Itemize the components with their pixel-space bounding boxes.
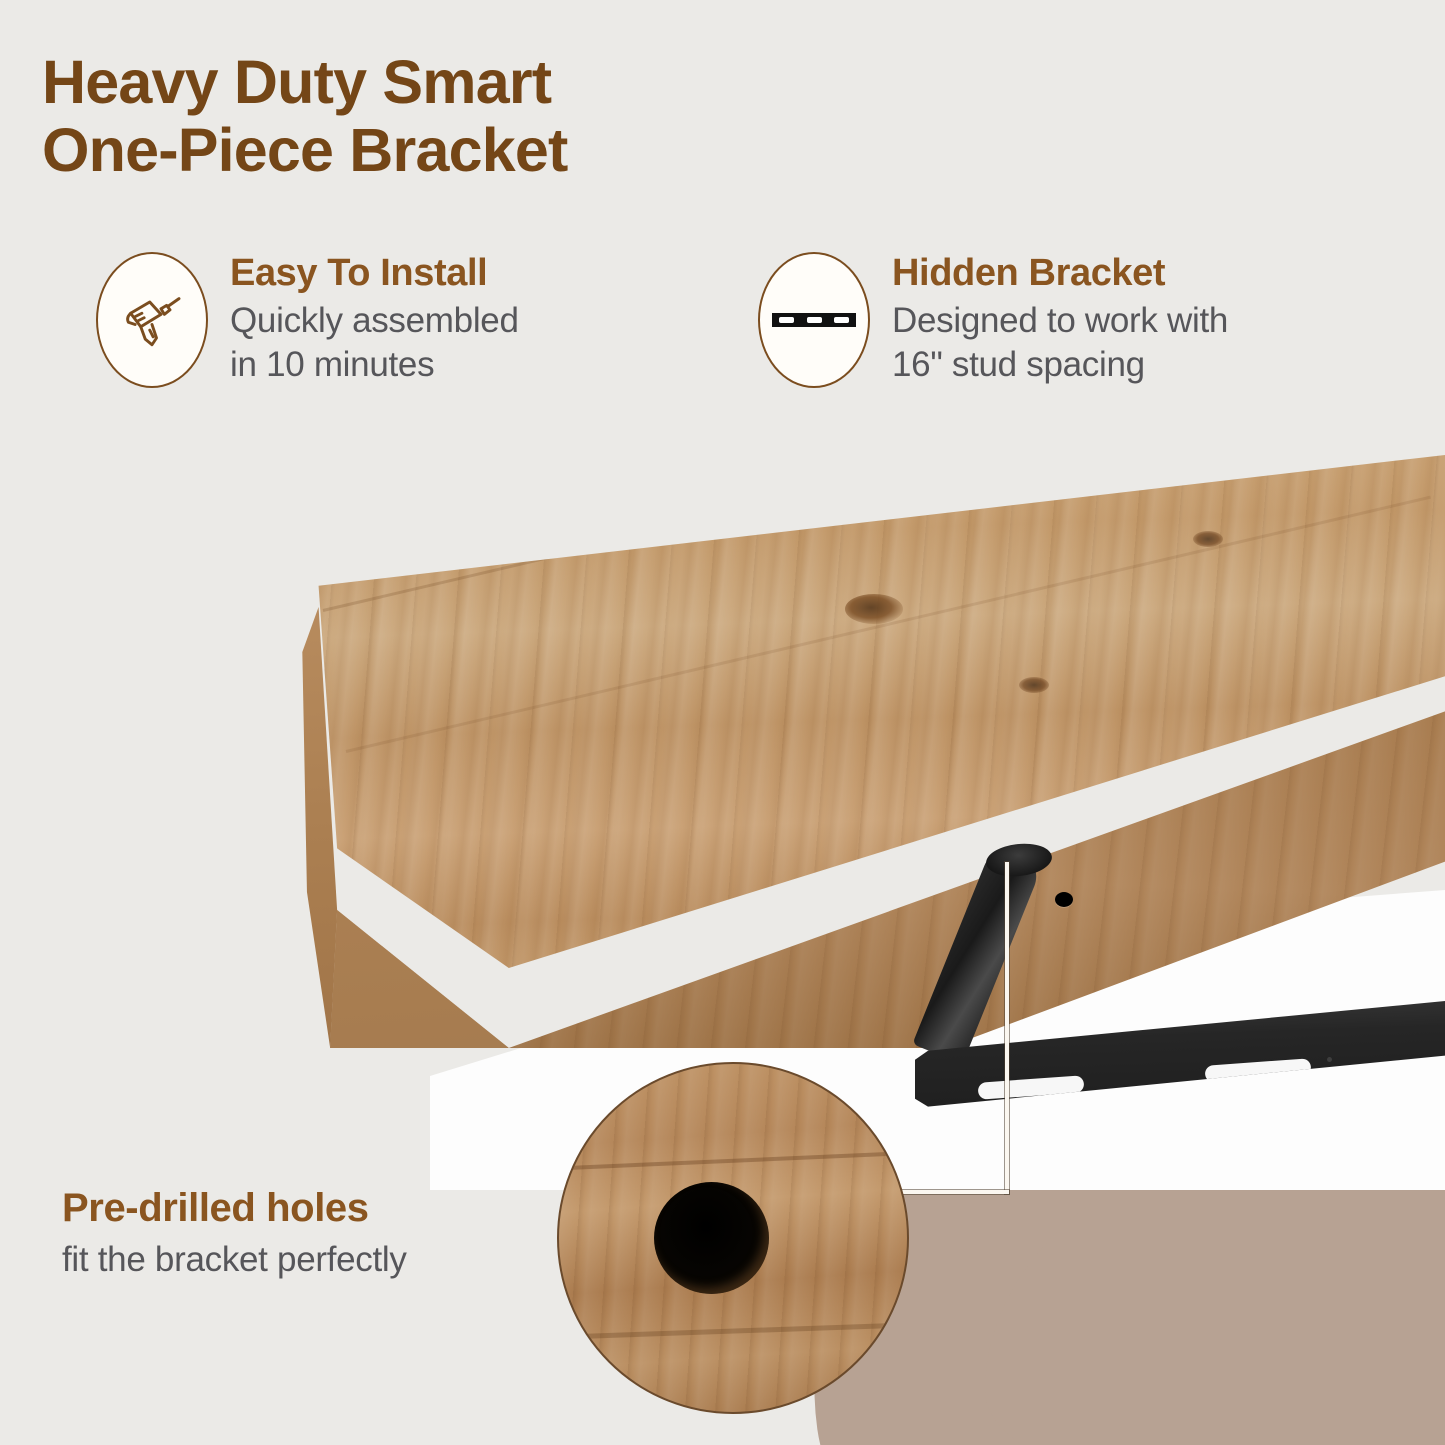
bracket-bar-mark [1327, 1057, 1332, 1062]
plank-seam [323, 350, 1430, 613]
headline-line-2: One-Piece Bracket [42, 116, 862, 184]
drill-icon-badge [96, 252, 208, 388]
feature-hidden-bracket: Hidden Bracket Designed to work with 16"… [758, 248, 1398, 388]
feature-desc-line-1: Designed to work with [892, 299, 1228, 343]
plank-seam [346, 495, 1431, 752]
wood-knot [845, 594, 903, 624]
feature-text-block: Hidden Bracket Designed to work with 16"… [892, 248, 1228, 387]
feature-easy-to-install: Easy To Install Quickly assembled in 10 … [96, 248, 696, 388]
bracket-bar-icon [771, 300, 857, 340]
magnifier-wood-seam [557, 1321, 909, 1342]
caption-pre-drilled-holes: Pre-drilled holes fit the bracket perfec… [62, 1186, 552, 1282]
feature-title: Easy To Install [230, 252, 519, 295]
feature-text-block: Easy To Install Quickly assembled in 10 … [230, 248, 519, 387]
wood-knot [1019, 677, 1049, 693]
feature-desc-line-2: in 10 minutes [230, 343, 519, 387]
magnifier-wood-seam [557, 1148, 909, 1172]
headline-line-1: Heavy Duty Smart [42, 48, 862, 116]
feature-title: Hidden Bracket [892, 252, 1228, 295]
page-title: Heavy Duty Smart One-Piece Bracket [42, 48, 862, 185]
wooden-shelf [300, 448, 1445, 1048]
magnifier-inset [557, 1062, 909, 1414]
caption-subtitle: fit the bracket perfectly [62, 1238, 552, 1282]
bracket-rod-set-screw-hole [1055, 892, 1073, 907]
caption-title: Pre-drilled holes [62, 1186, 552, 1230]
product-infographic: Heavy Duty Smart One-Piece Bracket Easy … [0, 0, 1445, 1445]
pre-drilled-hole [654, 1182, 769, 1294]
callout-line-vertical [1005, 862, 1009, 1194]
feature-desc-line-1: Quickly assembled [230, 299, 519, 343]
drill-icon [116, 284, 188, 356]
bracket-bar-icon-badge [758, 252, 870, 388]
feature-desc-line-2: 16" stud spacing [892, 343, 1228, 387]
